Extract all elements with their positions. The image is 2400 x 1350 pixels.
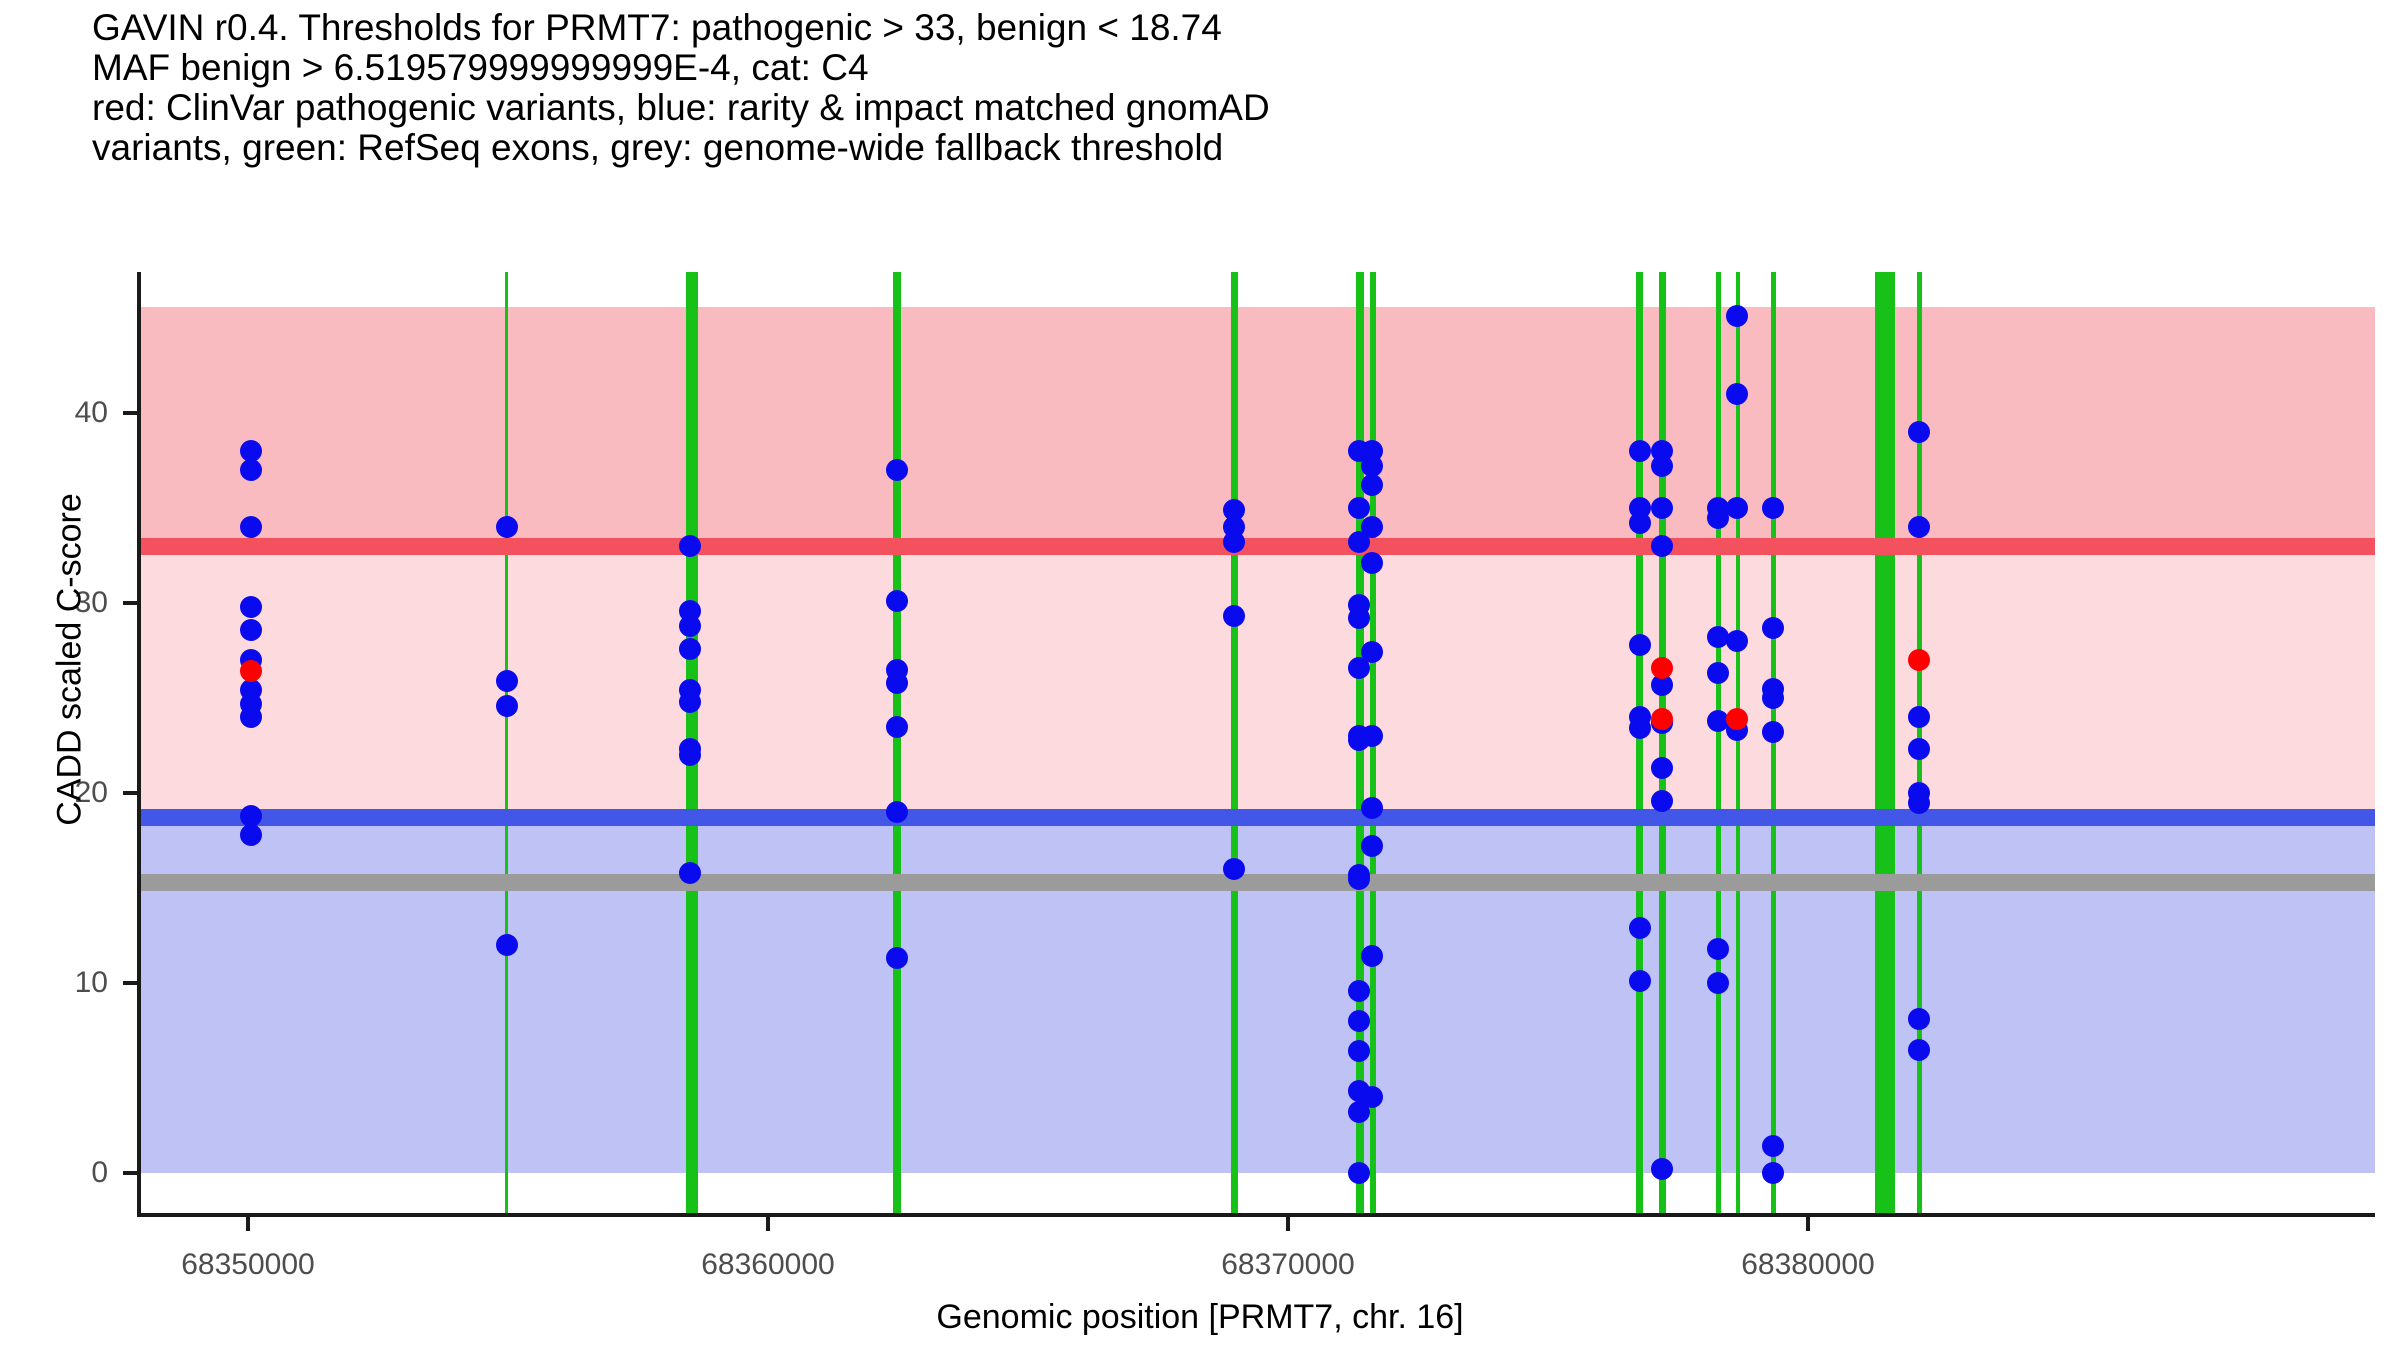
gnomad-variant-point [679, 535, 701, 557]
exon-bar [1636, 272, 1643, 1215]
gnomad-variant-point [1707, 972, 1729, 994]
clinvar-pathogenic-point [1908, 649, 1930, 671]
clinvar-pathogenic-point [1726, 708, 1748, 730]
gnomad-variant-point [496, 516, 518, 538]
gnomad-variant-point [496, 934, 518, 956]
title-line-4: variants, green: RefSeq exons, grey: gen… [92, 128, 2372, 168]
x-tick-label: 68350000 [98, 1248, 398, 1282]
gnomad-variant-point [1629, 512, 1651, 534]
x-axis-line [137, 1213, 2375, 1217]
gnomad-variant-point [1908, 516, 1930, 538]
shaded-region-pathogenic-zone [140, 307, 2375, 546]
exon-bar [1231, 272, 1238, 1215]
figure-title: GAVIN r0.4. Thresholds for PRMT7: pathog… [92, 8, 2372, 168]
x-tick-mark [766, 1217, 770, 1231]
gnomad-variant-point [240, 824, 262, 846]
gnomad-variant-point [1348, 1162, 1370, 1184]
gnomad-variant-point [679, 862, 701, 884]
y-tick-label: 0 [38, 1156, 108, 1190]
x-tick-mark [246, 1217, 250, 1231]
gnomad-variant-point [1908, 1008, 1930, 1030]
threshold-line-genome_wide_fallback [140, 874, 2375, 891]
gnomad-variant-point [679, 638, 701, 660]
gnomad-variant-point [1223, 531, 1245, 553]
exon-bar [893, 272, 901, 1215]
gnomad-variant-point [1348, 980, 1370, 1002]
plot-panel [140, 272, 2375, 1215]
gnomad-variant-point [240, 516, 262, 538]
gnomad-variant-point [679, 744, 701, 766]
x-axis-title: Genomic position [PRMT7, chr. 16] [0, 1298, 2400, 1337]
gnomad-variant-point [679, 691, 701, 713]
y-tick-mark [123, 1171, 137, 1175]
exon-bar [1736, 272, 1740, 1215]
clinvar-pathogenic-point [1651, 657, 1673, 679]
gnomad-variant-point [240, 619, 262, 641]
exon-bar [1771, 272, 1776, 1215]
gnomad-variant-point [1651, 790, 1673, 812]
shaded-region-benign-zone [140, 817, 2375, 1173]
gnomad-variant-point [240, 706, 262, 728]
title-line-1: GAVIN r0.4. Thresholds for PRMT7: pathog… [92, 8, 2372, 48]
y-tick-mark [123, 601, 137, 605]
shaded-region-vus-zone [140, 546, 2375, 817]
gnomad-variant-point [1908, 421, 1930, 443]
y-tick-mark [123, 791, 137, 795]
gnomad-variant-point [1629, 970, 1651, 992]
gnomad-variant-point [1762, 1162, 1784, 1184]
title-line-3: red: ClinVar pathogenic variants, blue: … [92, 88, 2372, 128]
gnomad-variant-point [1908, 706, 1930, 728]
gnomad-variant-point [1223, 858, 1245, 880]
exon-bar [1659, 272, 1666, 1215]
title-line-2: MAF benign > 6.519579999999999E-4, cat: … [92, 48, 2372, 88]
gnomad-variant-point [1908, 792, 1930, 814]
gnomad-variant-point [240, 596, 262, 618]
y-axis-line [137, 272, 141, 1215]
gnomad-variant-point [496, 695, 518, 717]
x-tick-label: 68370000 [1138, 1248, 1438, 1282]
gnomad-variant-point [240, 459, 262, 481]
gnomad-variant-point [886, 672, 908, 694]
gnomad-variant-point [1707, 938, 1729, 960]
gnomad-variant-point [496, 670, 518, 692]
gnomad-variant-point [1629, 917, 1651, 939]
gnomad-variant-point [1908, 738, 1930, 760]
gnomad-variant-point [679, 615, 701, 637]
gnomad-variant-point [886, 590, 908, 612]
gnomad-variant-point [886, 459, 908, 481]
x-tick-label: 68380000 [1658, 1248, 1958, 1282]
x-tick-label: 68360000 [618, 1248, 918, 1282]
gnomad-variant-point [1908, 1039, 1930, 1061]
gnomad-variant-point [1762, 687, 1784, 709]
gnomad-variant-point [886, 801, 908, 823]
exon-bar [1875, 272, 1895, 1215]
x-tick-mark [1286, 1217, 1290, 1231]
threshold-line-pathogenic [140, 538, 2375, 555]
plot-figure: GAVIN r0.4. Thresholds for PRMT7: pathog… [0, 0, 2400, 1350]
gnomad-variant-point [886, 716, 908, 738]
y-tick-mark [123, 981, 137, 985]
gnomad-variant-point [1629, 717, 1651, 739]
gnomad-variant-point [1651, 1158, 1673, 1180]
gnomad-variant-point [1629, 634, 1651, 656]
y-axis-title: CADD scaled C-score [51, 230, 90, 1090]
y-tick-mark [123, 411, 137, 415]
exon-bar [1716, 272, 1721, 1215]
exon-bar [505, 272, 508, 1215]
x-tick-mark [1806, 1217, 1810, 1231]
threshold-line-benign [140, 809, 2375, 826]
gnomad-variant-point [1629, 440, 1651, 462]
gnomad-variant-point [1348, 868, 1370, 890]
gnomad-variant-point [1762, 617, 1784, 639]
gnomad-variant-point [1762, 497, 1784, 519]
